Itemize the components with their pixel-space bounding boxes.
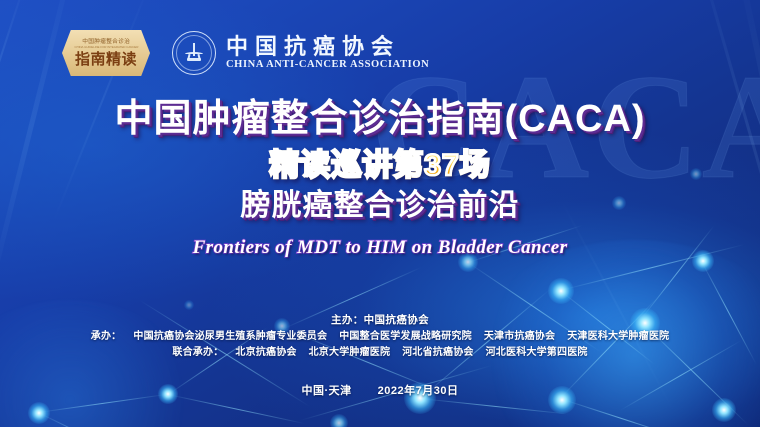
seal-emblem-icon (185, 43, 203, 63)
co-organizer-item: 河北省抗癌协会 (402, 347, 473, 358)
caca-association-logo: 中国抗癌协会 CHINA ANTI-CANCER ASSOCIATION (172, 31, 429, 75)
co-organizer-line: 联合承办：北京抗癌协会北京大学肿瘤医院河北省抗癌协会河北医科大学第四医院 (0, 345, 760, 362)
topic-title: 膀胱癌整合诊治前沿 (0, 189, 760, 223)
host-line: 主办：中国抗癌协会 (0, 313, 760, 329)
event-date: 2022年7月30日 (378, 385, 459, 397)
organizer-item: 天津市抗癌协会 (484, 331, 555, 342)
organizer-label: 承办： (91, 331, 122, 342)
poster-canvas: CACA (0, 0, 760, 427)
organizer-item: 天津医科大学肿瘤医院 (567, 331, 669, 342)
co-organizer-item: 北京大学肿瘤医院 (309, 347, 391, 358)
co-organizer-item: 北京抗癌协会 (235, 347, 296, 358)
caca-name-chinese: 中国抗癌协会 (226, 35, 429, 58)
guideline-badge-top-text: 中国肿瘤整合诊治 (82, 39, 130, 45)
guideline-badge: 中国肿瘤整合诊治 CHINA GUIDELINE FOR INTEGRATED … (62, 30, 150, 76)
event-location: 中国·天津 (302, 385, 352, 397)
footer-block: 中国·天津2022年7月30日 (0, 382, 760, 398)
co-organizer-label: 联合承办： (172, 347, 223, 358)
main-title: 中国肿瘤整合诊治指南(CACA) (0, 98, 760, 141)
session-title: 精读巡讲第37场 (0, 149, 760, 183)
poster-header: 中国肿瘤整合诊治 CHINA GUIDELINE FOR INTEGRATED … (62, 30, 429, 76)
guideline-badge-english-text: CHINA GUIDELINE FOR INTEGRATED CANCER (74, 46, 138, 49)
organizer-item: 中国抗癌协会泌尿男生殖系肿瘤专业委员会 (133, 331, 327, 342)
organizer-line: 承办：中国抗癌协会泌尿男生殖系肿瘤专业委员会中国整合医学发展战略研究院天津市抗癌… (0, 329, 760, 346)
caca-name-english: CHINA ANTI-CANCER ASSOCIATION (226, 59, 429, 71)
title-block: 中国肿瘤整合诊治指南(CACA) 精读巡讲第37场 膀胱癌整合诊治前沿 Fron… (0, 98, 760, 259)
english-subtitle: Frontiers of MDT to HIM on Bladder Cance… (0, 237, 760, 259)
organizer-item: 中国整合医学发展战略研究院 (339, 331, 472, 342)
guideline-badge-main-text: 指南精读 (75, 52, 137, 67)
caca-seal-icon (172, 31, 216, 75)
caca-logo-text: 中国抗癌协会 CHINA ANTI-CANCER ASSOCIATION (226, 35, 429, 71)
credits-block: 主办：中国抗癌协会 承办：中国抗癌协会泌尿男生殖系肿瘤专业委员会中国整合医学发展… (0, 313, 760, 362)
co-organizer-item: 河北医科大学第四医院 (486, 347, 588, 358)
